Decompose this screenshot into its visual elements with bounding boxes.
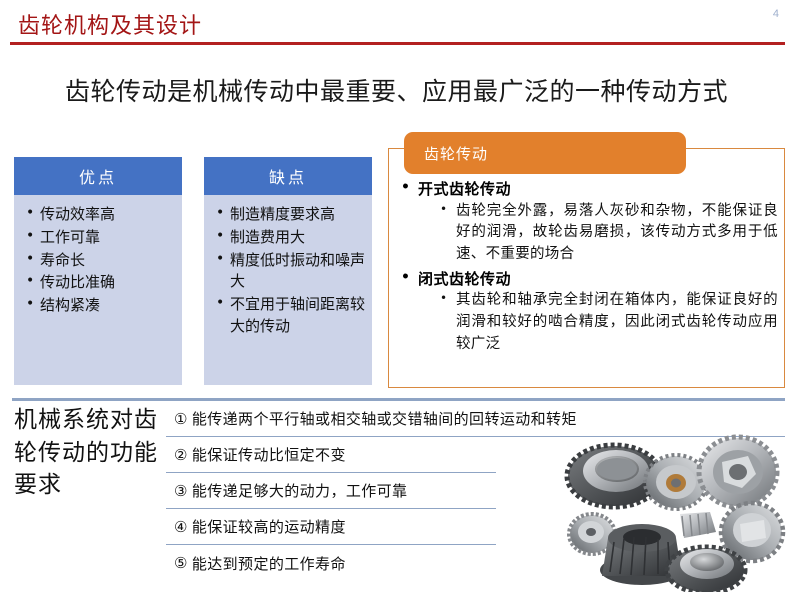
group-title: 闭式齿轮传动 <box>396 268 778 291</box>
main-heading: 齿轮传动是机械传动中最重要、应用最广泛的一种传动方式 <box>0 72 793 108</box>
item-text: 能传递足够大的动力，工作可靠 <box>192 480 408 501</box>
item-number: ① <box>174 410 188 428</box>
pros-list: 传动效率高 工作可靠 寿命长 传动比准确 结构紧凑 <box>14 195 182 317</box>
requirements-label: 机械系统对齿轮传动的功能要求 <box>14 404 162 502</box>
group-detail: 其齿轮和轴承完全封闭在箱体内，能保证良好的润滑和较好的啮合精度，因此闭式齿轮传动… <box>438 290 778 355</box>
item-number: ② <box>174 446 188 464</box>
list-item: ③ 能传递足够大的动力，工作可靠 <box>166 473 496 509</box>
cons-box: 缺点 制造精度要求高 制造费用大 精度低时振动和噪声大 不宜用于轴间距离较大的传… <box>204 157 372 385</box>
list-item: 精度低时振动和噪声大 <box>214 250 366 294</box>
gear-drive-group: 闭式齿轮传动 其齿轮和轴承完全封闭在箱体内，能保证良好的润滑和较好的啮合精度，因… <box>396 268 778 356</box>
list-item: 寿命长 <box>24 250 176 272</box>
item-text: 能保证较高的运动精度 <box>192 516 346 537</box>
list-item: ④ 能保证较高的运动精度 <box>166 509 496 545</box>
item-number: ⑤ <box>174 554 188 572</box>
pros-box: 优点 传动效率高 工作可靠 寿命长 传动比准确 结构紧凑 <box>14 157 182 385</box>
cons-box-header: 缺点 <box>204 157 372 195</box>
item-text: 能达到预定的工作寿命 <box>192 553 346 574</box>
list-item: ⑤ 能达到预定的工作寿命 <box>166 545 496 581</box>
page-number: 4 <box>773 8 779 20</box>
group-detail: 齿轮完全外露，易落人灰砂和杂物，不能保证良好的润滑，故轮齿易磨损，该传动方式多用… <box>438 201 778 266</box>
list-item: 工作可靠 <box>24 227 176 249</box>
item-text: 能保证传动比恒定不变 <box>192 444 346 465</box>
page-title: 齿轮机构及其设计 <box>18 8 202 40</box>
list-item: 制造精度要求高 <box>214 204 366 226</box>
pros-box-header: 优点 <box>14 157 182 195</box>
list-item: 结构紧凑 <box>24 295 176 317</box>
group-title: 开式齿轮传动 <box>396 178 778 201</box>
item-number: ③ <box>174 482 188 500</box>
gear-drive-group: 开式齿轮传动 齿轮完全外露，易落人灰砂和杂物，不能保证良好的润滑，故轮齿易磨损，… <box>396 178 778 266</box>
list-item: 制造费用大 <box>214 227 366 249</box>
item-number: ④ <box>174 518 188 536</box>
item-text: 能传递两个平行轴或相交轴或交错轴间的回转运动和转矩 <box>192 408 577 429</box>
title-divider <box>10 42 785 45</box>
list-item: 不宜用于轴间距离较大的传动 <box>214 294 366 338</box>
cons-list: 制造精度要求高 制造费用大 精度低时振动和噪声大 不宜用于轴间距离较大的传动 <box>204 195 372 338</box>
gear-drive-content: 开式齿轮传动 齿轮完全外露，易落人灰砂和杂物，不能保证良好的润滑，故轮齿易磨损，… <box>396 178 778 358</box>
list-item: 传动比准确 <box>24 272 176 294</box>
gear-drive-tab: 齿轮传动 <box>404 132 686 174</box>
slide-root: 齿轮机构及其设计 4 齿轮传动是机械传动中最重要、应用最广泛的一种传动方式 优点… <box>0 0 793 595</box>
list-item: ② 能保证传动比恒定不变 <box>166 437 496 473</box>
list-item: ① 能传递两个平行轴或相交轴或交错轴间的回转运动和转矩 <box>166 401 785 437</box>
requirements-list: ① 能传递两个平行轴或相交轴或交错轴间的回转运动和转矩 ② 能保证传动比恒定不变… <box>166 401 785 581</box>
list-item: 传动效率高 <box>24 204 176 226</box>
